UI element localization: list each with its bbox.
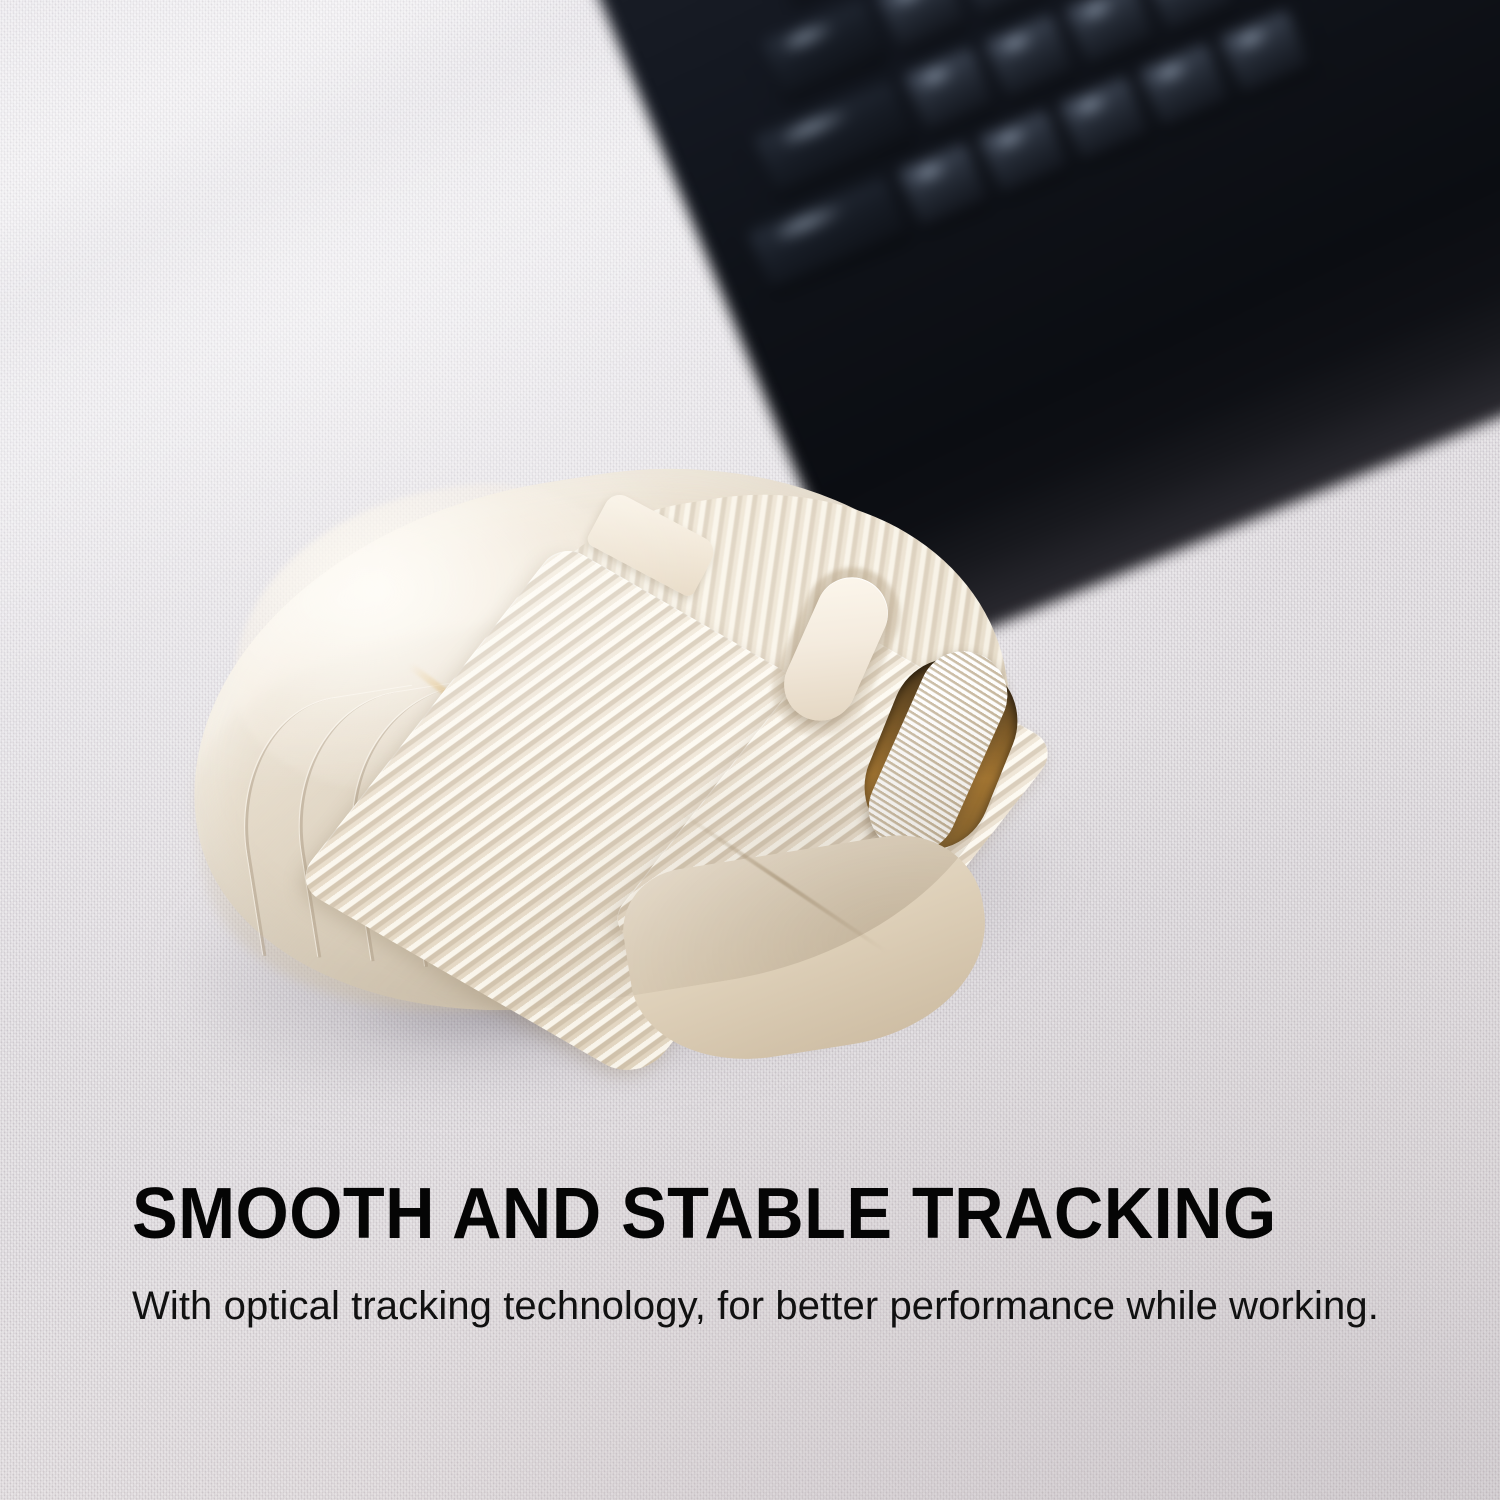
keycap	[978, 109, 1070, 195]
keycap	[898, 142, 990, 228]
keycap	[1139, 43, 1231, 129]
keycap	[761, 0, 888, 99]
keycap	[1219, 9, 1311, 95]
keycap	[1058, 76, 1150, 162]
keycap	[984, 14, 1076, 100]
subtitle-text: With optical tracking technology, for be…	[132, 1280, 1392, 1332]
keycap	[747, 176, 909, 291]
keycap	[903, 47, 995, 133]
keycap	[876, 0, 968, 51]
keycap	[956, 0, 1048, 18]
product-banner: SMOOTH AND STABLE TRACKING With optical …	[0, 0, 1500, 1500]
wireless-mouse	[188, 478, 1008, 1018]
keycap	[1145, 0, 1237, 33]
caption-block: SMOOTH AND STABLE TRACKING With optical …	[132, 1178, 1422, 1332]
keycap	[1064, 0, 1156, 66]
headline-text: SMOOTH AND STABLE TRACKING	[132, 1178, 1358, 1250]
